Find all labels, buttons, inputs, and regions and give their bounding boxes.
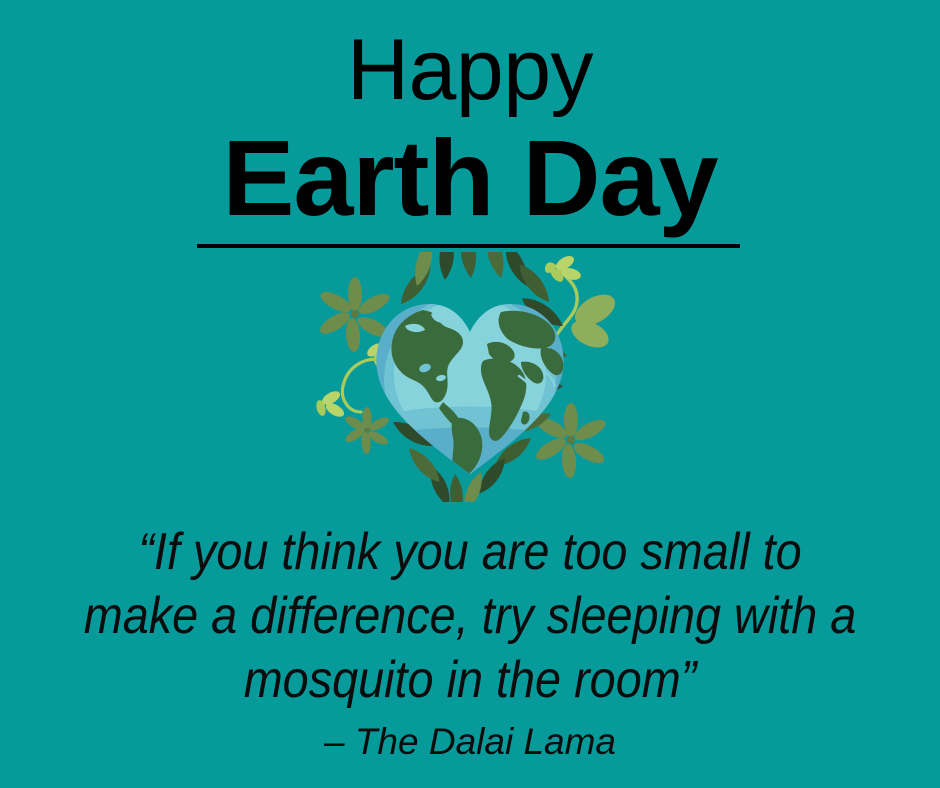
title-underline-rule: [197, 244, 740, 248]
quote-line-2: make a difference, try sleeping with a: [47, 584, 893, 648]
quote-line-1: “If you think you are too small to: [47, 520, 893, 584]
page-title-earth-day: Earth Day: [0, 124, 940, 232]
quote-block: “If you think you are too small to make …: [0, 520, 940, 764]
quote-attribution: – The Dalai Lama: [0, 720, 940, 764]
flower-decoration-lower-left: [343, 407, 391, 454]
earth-heart-illustration: [305, 252, 635, 502]
quote-line-3: mosquito in the room”: [47, 648, 893, 712]
page-title-happy: Happy: [0, 27, 940, 113]
earth-day-poster: Happy Earth Day: [0, 0, 940, 788]
